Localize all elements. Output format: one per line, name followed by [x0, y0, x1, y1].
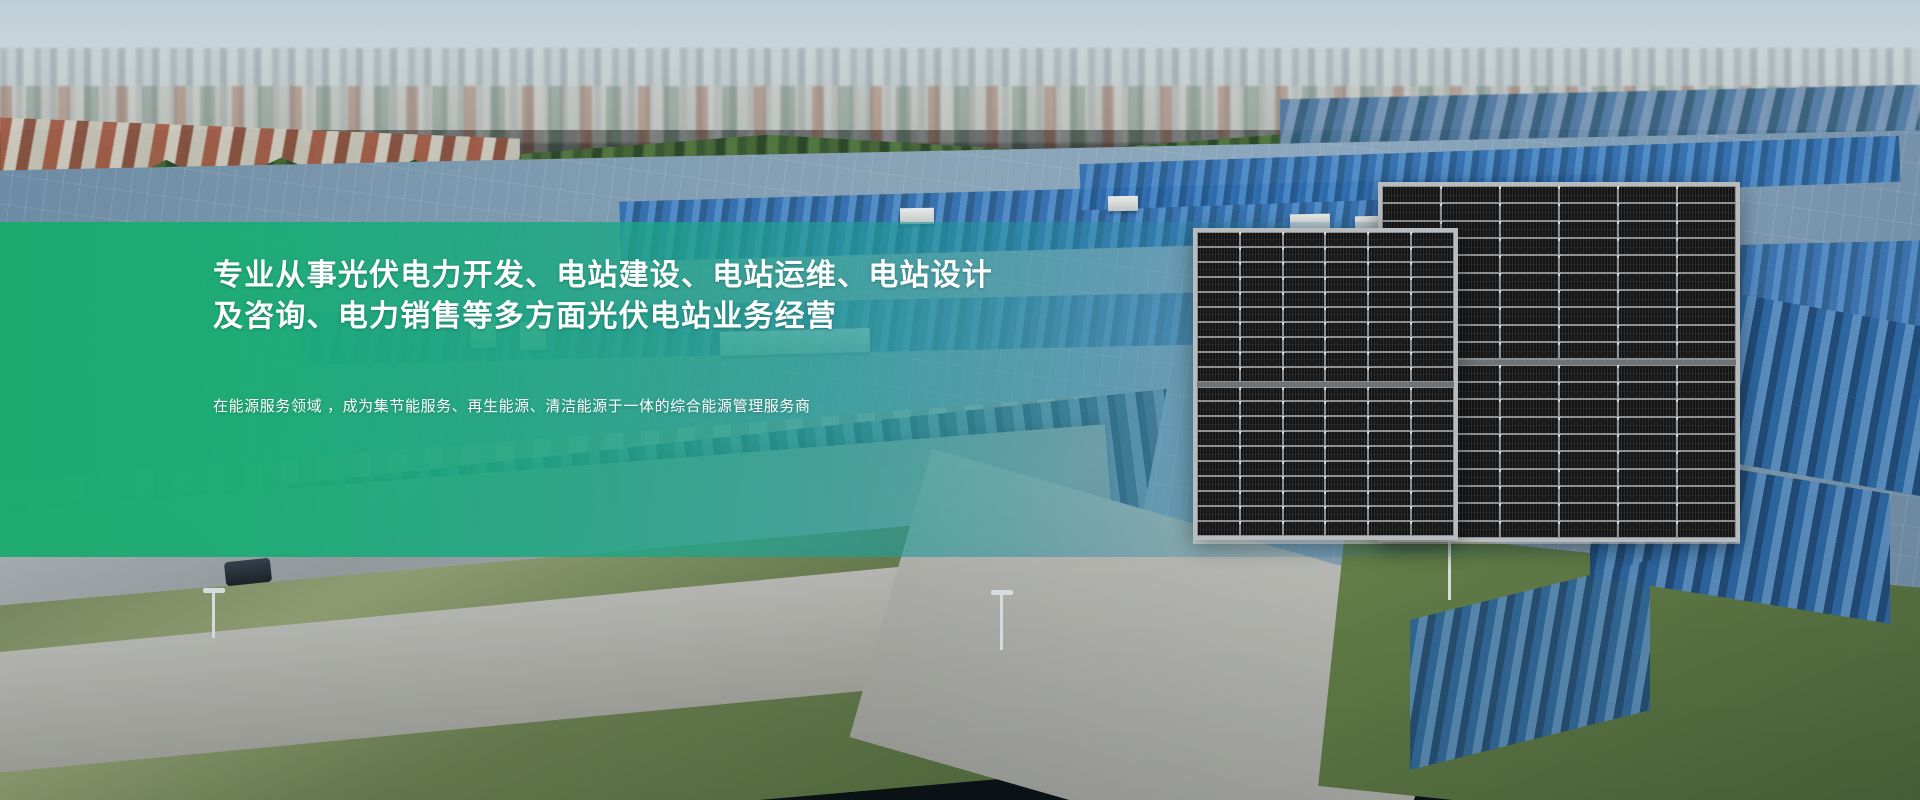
- solar-cell: [1501, 383, 1558, 398]
- cell-column: [1369, 233, 1410, 381]
- solar-cell: [1198, 353, 1239, 366]
- solar-cell: [1501, 239, 1558, 254]
- solar-cell: [1501, 291, 1558, 306]
- solar-cell: [1619, 400, 1676, 415]
- hero-banner: 专业从事光伏电力开发、电站建设、电站运维、电站设计 及咨询、电力销售等多方面光伏…: [0, 0, 1920, 800]
- solar-cell: [1412, 293, 1453, 306]
- solar-cell: [1412, 492, 1453, 505]
- solar-cell: [1326, 432, 1367, 445]
- solar-cell: [1501, 274, 1558, 289]
- solar-cell: [1284, 233, 1325, 246]
- solar-cell: [1619, 239, 1676, 254]
- solar-cell: [1369, 353, 1410, 366]
- solar-cell: [1241, 477, 1282, 490]
- solar-cell: [1560, 487, 1617, 502]
- solar-cell: [1284, 462, 1325, 475]
- solar-cell: [1369, 447, 1410, 460]
- solar-cell: [1678, 187, 1735, 202]
- solar-cell: [1198, 522, 1239, 535]
- solar-cell: [1501, 470, 1558, 485]
- cell-column: [1501, 187, 1558, 359]
- solar-cell: [1501, 326, 1558, 341]
- solar-cell: [1241, 293, 1282, 306]
- solar-cell: [1369, 263, 1410, 276]
- solar-cell: [1412, 462, 1453, 475]
- solar-cell: [1241, 417, 1282, 430]
- solar-cell: [1241, 338, 1282, 351]
- solar-cell: [1326, 263, 1367, 276]
- solar-cell: [1284, 353, 1325, 366]
- solar-cell: [1284, 447, 1325, 460]
- solar-cell: [1560, 452, 1617, 467]
- solar-cell: [1501, 204, 1558, 219]
- solar-cell: [1284, 507, 1325, 520]
- solar-cell: [1284, 323, 1325, 336]
- solar-cell: [1501, 187, 1558, 202]
- solar-cell: [1198, 263, 1239, 276]
- solar-cell: [1619, 470, 1676, 485]
- solar-cell: [1326, 308, 1367, 321]
- solar-cell: [1560, 204, 1617, 219]
- solar-cell: [1501, 222, 1558, 237]
- module-lower-half: [1197, 387, 1454, 537]
- solar-cell: [1369, 308, 1410, 321]
- solar-cell: [1326, 522, 1367, 535]
- solar-cell: [1284, 522, 1325, 535]
- cell-column: [1619, 187, 1676, 359]
- solar-cell: [1241, 278, 1282, 291]
- solar-cell: [1678, 256, 1735, 271]
- solar-cell: [1619, 222, 1676, 237]
- solar-cell: [1412, 477, 1453, 490]
- solar-cell: [1619, 204, 1676, 219]
- solar-cell: [1412, 263, 1453, 276]
- solar-cell: [1501, 400, 1558, 415]
- solar-cell: [1678, 487, 1735, 502]
- solar-cell: [1501, 487, 1558, 502]
- solar-cell: [1326, 462, 1367, 475]
- solar-cell: [1326, 248, 1367, 261]
- solar-cell: [1501, 504, 1558, 519]
- solar-cell: [1241, 447, 1282, 460]
- cell-column: [1241, 233, 1282, 381]
- solar-cell: [1369, 278, 1410, 291]
- solar-cell: [1326, 477, 1367, 490]
- solar-cell: [1198, 368, 1239, 381]
- solar-cell: [1369, 417, 1410, 430]
- solar-cell: [1678, 274, 1735, 289]
- solar-cell: [1560, 400, 1617, 415]
- solar-cell: [1412, 388, 1453, 401]
- solar-cell: [1284, 477, 1325, 490]
- cell-column: [1412, 388, 1453, 536]
- solar-cell: [1501, 343, 1558, 358]
- solar-cell: [1678, 383, 1735, 398]
- solar-cell: [1284, 278, 1325, 291]
- solar-cell: [1369, 462, 1410, 475]
- solar-cell: [1619, 291, 1676, 306]
- solar-cell: [1678, 308, 1735, 323]
- solar-cell: [1412, 417, 1453, 430]
- cell-column: [1326, 233, 1367, 381]
- solar-cell: [1241, 233, 1282, 246]
- cell-column: [1560, 187, 1617, 359]
- solar-cell: [1326, 388, 1367, 401]
- solar-cell: [1412, 507, 1453, 520]
- solar-cell: [1678, 343, 1735, 358]
- solar-cell: [1560, 383, 1617, 398]
- solar-cell: [1198, 402, 1239, 415]
- solar-cell: [1619, 504, 1676, 519]
- solar-cell: [1560, 418, 1617, 433]
- module-upper-half: [1197, 232, 1454, 382]
- solar-cell: [1619, 418, 1676, 433]
- solar-cell: [1619, 326, 1676, 341]
- solar-cell: [1284, 417, 1325, 430]
- solar-cell: [1284, 402, 1325, 415]
- solar-cell: [1560, 187, 1617, 202]
- hero-subline: 在能源服务领域 ，成为集节能服务、再生能源、清洁能源于一体的综合能源管理服务商: [213, 395, 973, 419]
- solar-cell: [1326, 353, 1367, 366]
- solar-cell: [1198, 447, 1239, 460]
- solar-cell: [1678, 418, 1735, 433]
- cell-column: [1326, 388, 1367, 536]
- solar-cell: [1326, 402, 1367, 415]
- solar-cell: [1241, 402, 1282, 415]
- solar-cell: [1241, 248, 1282, 261]
- solar-cell: [1198, 338, 1239, 351]
- solar-cell: [1619, 435, 1676, 450]
- solar-cell: [1560, 435, 1617, 450]
- solar-cell: [1412, 308, 1453, 321]
- solar-cell: [1326, 278, 1367, 291]
- solar-cell: [1241, 308, 1282, 321]
- solar-cell: [1369, 323, 1410, 336]
- solar-cell: [1619, 187, 1676, 202]
- cell-column: [1198, 388, 1239, 536]
- solar-cell: [1198, 278, 1239, 291]
- solar-cell: [1369, 338, 1410, 351]
- solar-cell: [1412, 233, 1453, 246]
- solar-cell: [1619, 522, 1676, 537]
- solar-cell: [1284, 368, 1325, 381]
- solar-cell: [1198, 432, 1239, 445]
- solar-cell: [1619, 452, 1676, 467]
- solar-cell: [1412, 368, 1453, 381]
- solar-cell: [1198, 248, 1239, 261]
- solar-cell: [1241, 388, 1282, 401]
- solar-cell: [1241, 368, 1282, 381]
- solar-cell: [1678, 239, 1735, 254]
- solar-cell: [1241, 522, 1282, 535]
- solar-cell: [1326, 293, 1367, 306]
- solar-cell: [1501, 452, 1558, 467]
- cell-column: [1369, 388, 1410, 536]
- solar-cell: [1369, 233, 1410, 246]
- cell-column: [1412, 233, 1453, 381]
- solar-cell: [1560, 239, 1617, 254]
- solar-cell: [1412, 338, 1453, 351]
- cell-column: [1678, 187, 1735, 359]
- solar-cell: [1326, 233, 1367, 246]
- solar-cell: [1198, 323, 1239, 336]
- solar-cell: [1619, 366, 1676, 381]
- solar-cell: [1198, 233, 1239, 246]
- cell-column: [1560, 366, 1617, 538]
- solar-cell: [1241, 263, 1282, 276]
- solar-cell: [1198, 417, 1239, 430]
- solar-cell: [1198, 462, 1239, 475]
- solar-cell: [1412, 353, 1453, 366]
- solar-cell: [1560, 343, 1617, 358]
- solar-cell: [1241, 462, 1282, 475]
- solar-cell: [1619, 383, 1676, 398]
- solar-cell: [1678, 504, 1735, 519]
- solar-cell: [1560, 256, 1617, 271]
- solar-cell: [1369, 507, 1410, 520]
- cell-column: [1198, 233, 1239, 381]
- solar-cell: [1241, 353, 1282, 366]
- solar-cell: [1369, 477, 1410, 490]
- solar-cell: [1619, 308, 1676, 323]
- solar-cell: [1198, 388, 1239, 401]
- solar-cell: [1326, 323, 1367, 336]
- solar-cell: [1198, 492, 1239, 505]
- solar-cell: [1326, 417, 1367, 430]
- solar-cell: [1326, 447, 1367, 460]
- solar-cell: [1412, 432, 1453, 445]
- hero-headline-line-2: 及咨询、电力销售等多方面光伏电站业务经营: [213, 296, 973, 337]
- solar-cell: [1619, 343, 1676, 358]
- hero-headline-line-1: 专业从事光伏电力开发、电站建设、电站运维、电站设计: [213, 255, 973, 296]
- cell-column: [1501, 366, 1558, 538]
- solar-cell: [1678, 204, 1735, 219]
- solar-cell: [1678, 435, 1735, 450]
- solar-cell: [1442, 204, 1499, 219]
- solar-cell: [1560, 326, 1617, 341]
- solar-cell: [1241, 432, 1282, 445]
- solar-cell: [1501, 366, 1558, 381]
- solar-cell: [1326, 368, 1367, 381]
- solar-cell: [1678, 222, 1735, 237]
- solar-cell: [1241, 507, 1282, 520]
- solar-cell: [1241, 323, 1282, 336]
- solar-cell: [1326, 492, 1367, 505]
- cell-column: [1678, 366, 1735, 538]
- solar-cell: [1198, 293, 1239, 306]
- solar-cell: [1678, 470, 1735, 485]
- solar-cell: [1326, 507, 1367, 520]
- solar-cell: [1678, 522, 1735, 537]
- solar-cell: [1560, 291, 1617, 306]
- solar-cell: [1412, 447, 1453, 460]
- solar-cell: [1560, 470, 1617, 485]
- hero-copy: 专业从事光伏电力开发、电站建设、电站运维、电站设计 及咨询、电力销售等多方面光伏…: [213, 255, 973, 419]
- solar-cell: [1326, 338, 1367, 351]
- solar-cell: [1284, 388, 1325, 401]
- solar-cell: [1619, 274, 1676, 289]
- solar-cell: [1678, 452, 1735, 467]
- solar-cell: [1501, 256, 1558, 271]
- solar-cell: [1560, 222, 1617, 237]
- solar-cell: [1442, 187, 1499, 202]
- solar-cell: [1678, 291, 1735, 306]
- solar-cell: [1369, 248, 1410, 261]
- solar-cell: [1284, 263, 1325, 276]
- solar-cell: [1412, 402, 1453, 415]
- solar-cell: [1198, 507, 1239, 520]
- solar-cell: [1678, 366, 1735, 381]
- solar-cell: [1369, 402, 1410, 415]
- solar-cell: [1560, 308, 1617, 323]
- solar-cell: [1383, 204, 1440, 219]
- cell-column: [1241, 388, 1282, 536]
- solar-cell: [1560, 366, 1617, 381]
- solar-cell: [1560, 274, 1617, 289]
- solar-cell: [1369, 432, 1410, 445]
- solar-cell: [1619, 487, 1676, 502]
- solar-cell: [1284, 293, 1325, 306]
- solar-cell: [1198, 308, 1239, 321]
- solar-cell: [1560, 522, 1617, 537]
- solar-cell: [1501, 308, 1558, 323]
- solar-cell: [1369, 293, 1410, 306]
- solar-cell: [1284, 492, 1325, 505]
- solar-cell: [1501, 418, 1558, 433]
- solar-cell: [1678, 400, 1735, 415]
- solar-cell: [1369, 388, 1410, 401]
- solar-cell: [1241, 492, 1282, 505]
- solar-cell: [1369, 492, 1410, 505]
- solar-cell: [1383, 187, 1440, 202]
- solar-cell: [1284, 308, 1325, 321]
- solar-cell: [1198, 477, 1239, 490]
- solar-cell: [1501, 522, 1558, 537]
- solar-cell: [1412, 323, 1453, 336]
- solar-cell: [1369, 368, 1410, 381]
- solar-cell: [1369, 522, 1410, 535]
- solar-cell: [1619, 256, 1676, 271]
- solar-cell: [1284, 248, 1325, 261]
- photovoltaic-module-front: [1193, 228, 1458, 540]
- solar-cell: [1412, 522, 1453, 535]
- solar-cell: [1560, 504, 1617, 519]
- solar-cell: [1284, 338, 1325, 351]
- solar-cell: [1678, 326, 1735, 341]
- cell-column: [1284, 388, 1325, 536]
- cell-column: [1284, 233, 1325, 381]
- solar-cell: [1501, 435, 1558, 450]
- solar-cell: [1412, 248, 1453, 261]
- solar-cell: [1284, 432, 1325, 445]
- solar-cell: [1412, 278, 1453, 291]
- cell-column: [1619, 366, 1676, 538]
